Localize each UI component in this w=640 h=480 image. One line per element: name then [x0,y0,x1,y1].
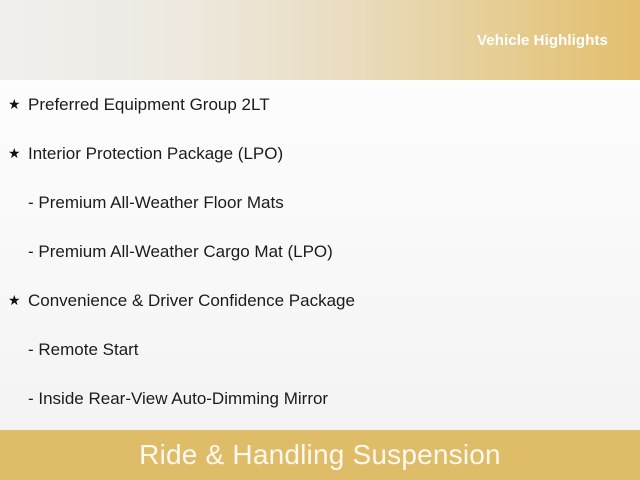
list-item: - Premium All-Weather Floor Mats [0,178,640,227]
list-item: ★ Preferred Equipment Group 2LT [0,80,640,129]
list-item: - Inside Rear-View Auto-Dimming Mirror [0,374,640,423]
slide-header: Vehicle Highlights [0,0,640,80]
list-item-label: - Premium All-Weather Cargo Mat (LPO) [28,227,333,276]
list-item: - Premium All-Weather Cargo Mat (LPO) [0,227,640,276]
list-item: - Remote Start [0,325,640,374]
highlights-list: ★ Preferred Equipment Group 2LT ★ Interi… [0,80,640,423]
list-item-label: - Remote Start [28,325,139,374]
list-item: ★ Convenience & Driver Confidence Packag… [0,276,640,325]
list-item-label: - Premium All-Weather Floor Mats [28,178,284,227]
list-item-label: Preferred Equipment Group 2LT [28,95,270,114]
vehicle-highlights-slide: Vehicle Highlights ★ Preferred Equipment… [0,0,640,480]
slide-footer: Ride & Handling Suspension [0,430,640,480]
list-item: ★ Interior Protection Package (LPO) [0,129,640,178]
page-title: Vehicle Highlights [477,32,608,49]
star-bullet-icon: ★ [8,129,22,178]
list-item-label: Interior Protection Package (LPO) [28,144,283,163]
star-bullet-icon: ★ [8,80,22,129]
list-item-label: Convenience & Driver Confidence Package [28,291,355,310]
footer-caption: Ride & Handling Suspension [139,439,501,471]
highlights-body: ★ Preferred Equipment Group 2LT ★ Interi… [0,80,640,430]
star-bullet-icon: ★ [8,276,22,325]
list-item-label: - Inside Rear-View Auto-Dimming Mirror [28,374,328,423]
